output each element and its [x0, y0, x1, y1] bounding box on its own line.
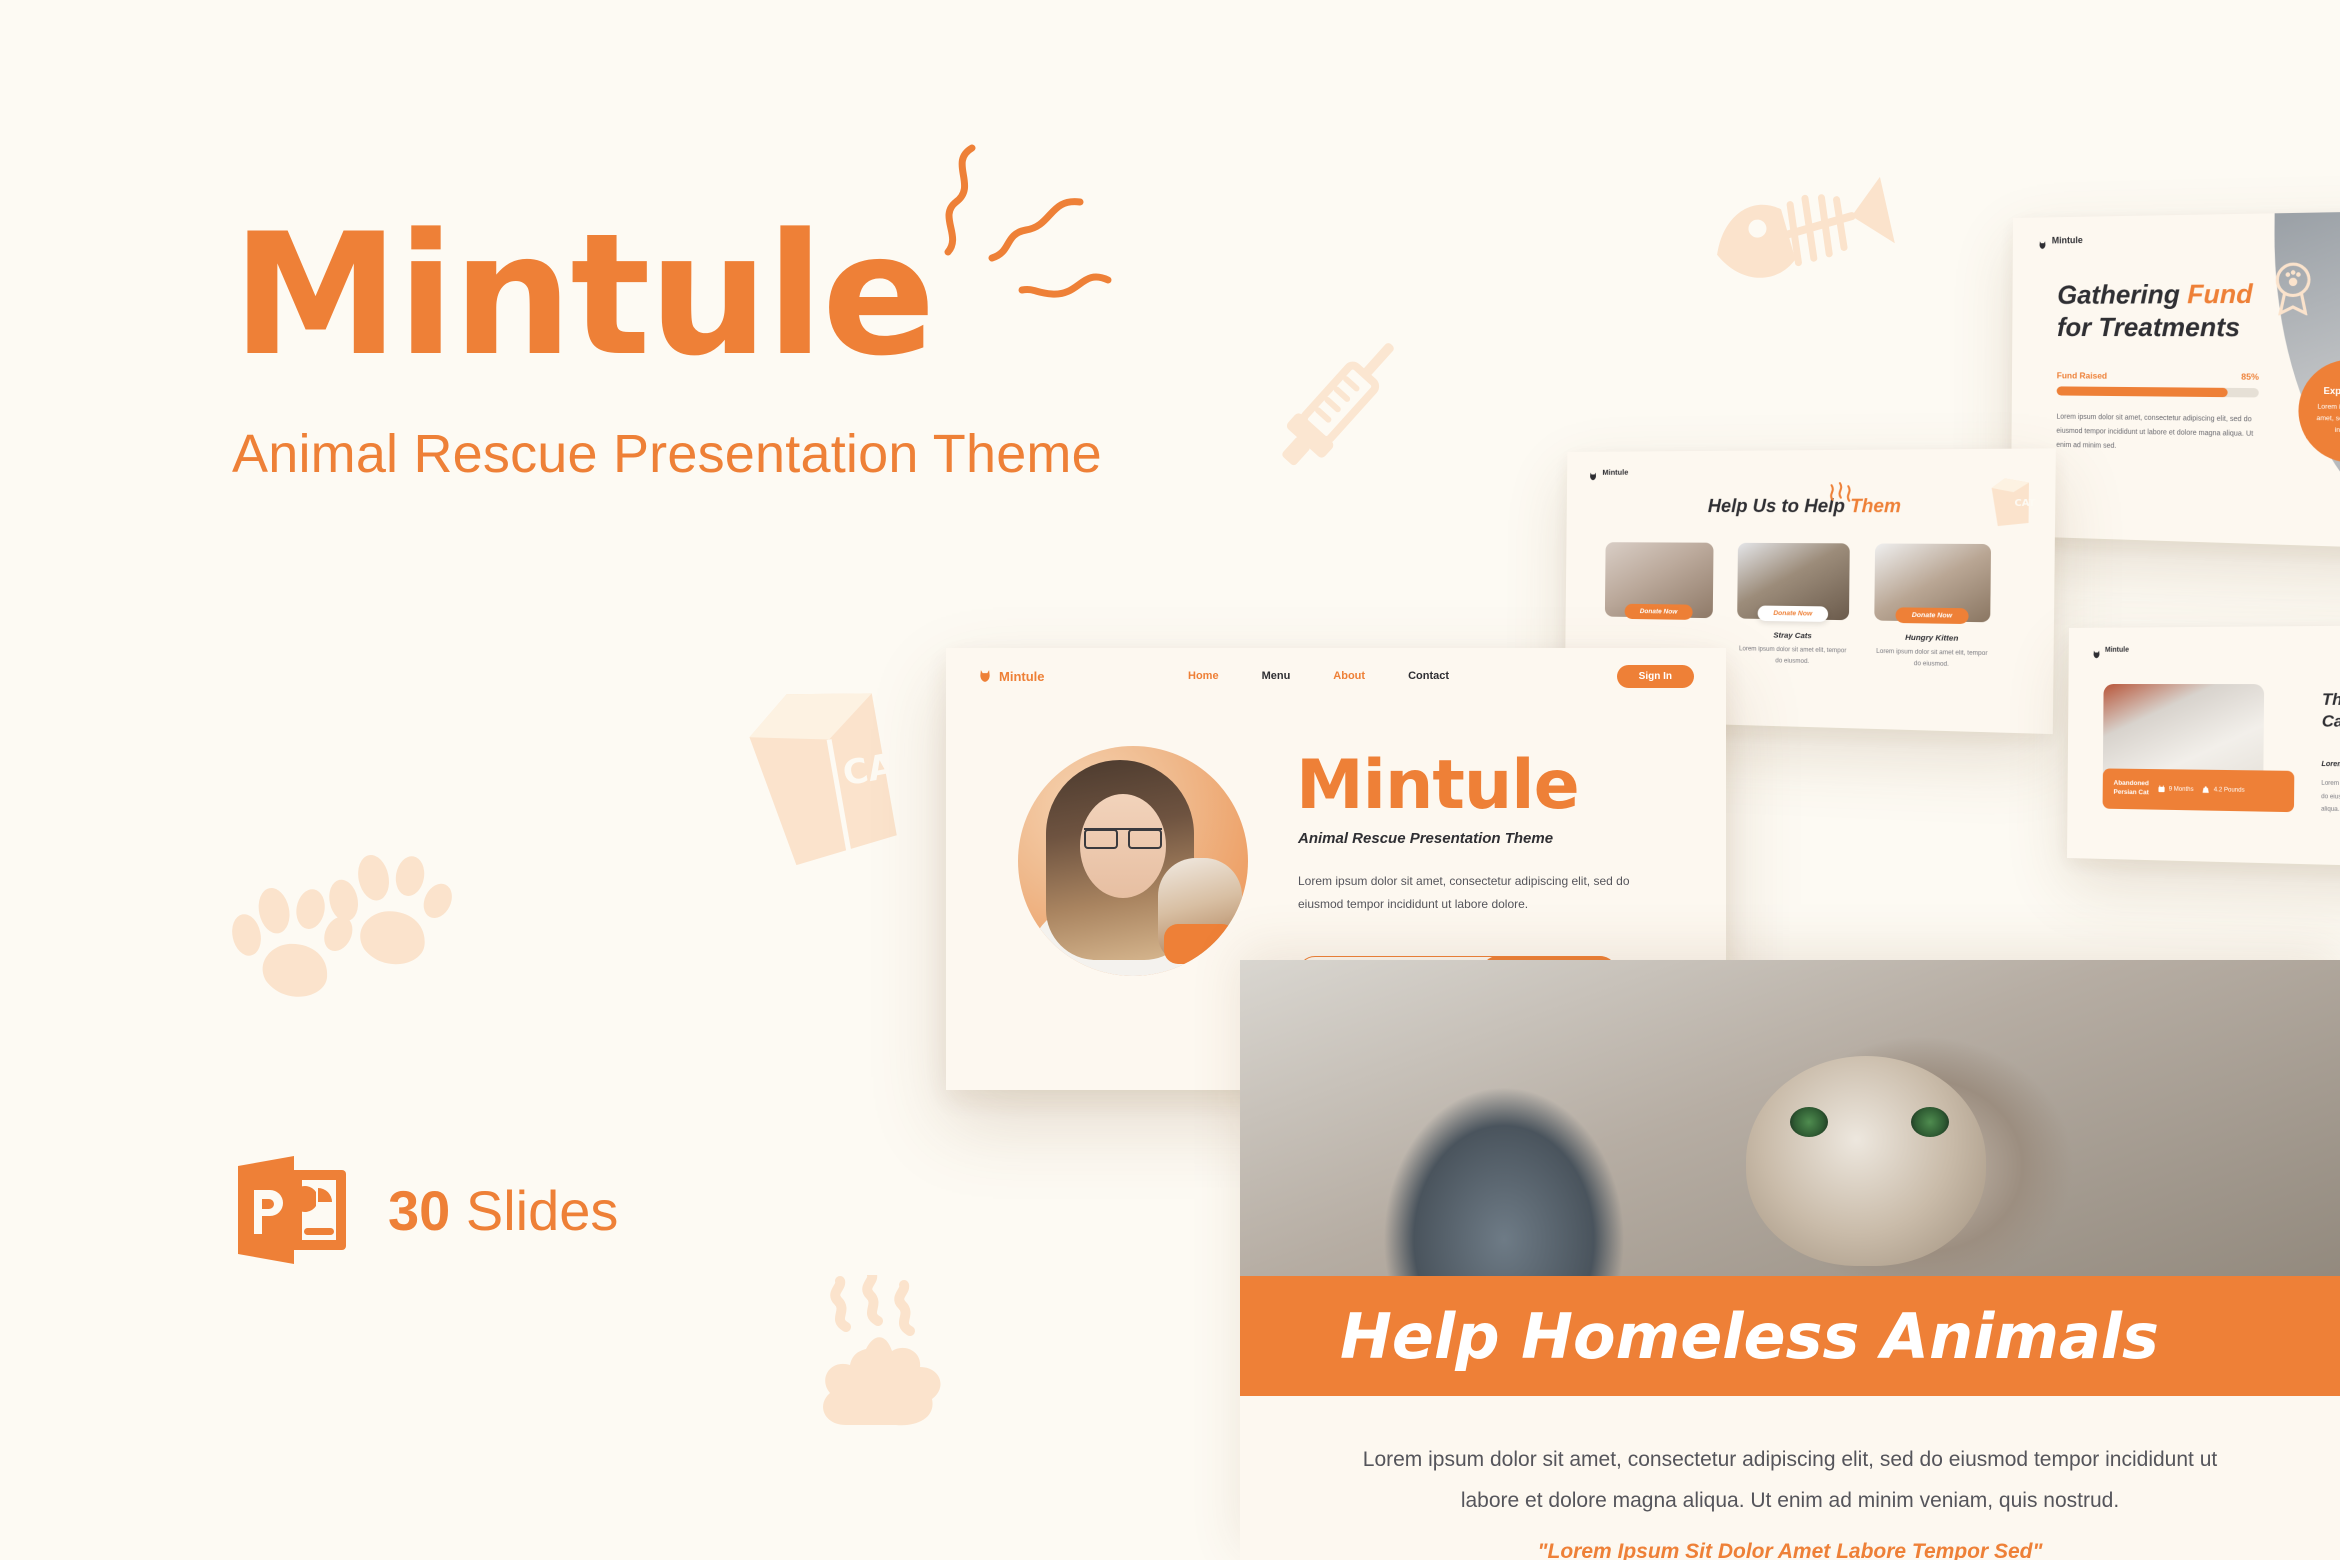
- donate-now-button[interactable]: Donate Now: [1758, 606, 1829, 622]
- cat-name-label: Abandoned Persian Cat: [2113, 780, 2149, 798]
- squiggle-lines-icon: [1827, 481, 1855, 511]
- slide-help-headline-highlight: Them: [1850, 496, 1901, 517]
- landing-body: Lorem ipsum dolor sit amet, consectetur …: [1298, 870, 1668, 917]
- landing-subtitle: Animal Rescue Presentation Theme: [1298, 830, 1553, 847]
- fish-bone-icon: [1705, 160, 1905, 325]
- homeless-paragraph: Lorem ipsum dolor sit amet, consectetur …: [1360, 1440, 2220, 1522]
- slide-adorable-cat[interactable]: Mintule Abandoned Persian Cat 9 Months 4…: [2067, 624, 2340, 869]
- slide-fund-body: Lorem ipsum dolor sit amet, consectetur …: [2056, 411, 2267, 457]
- slide-cat-title: This Adorable Cat Wants Home: [2322, 690, 2340, 734]
- slide-fund-headline-highlight: Fund: [2187, 278, 2253, 309]
- explanation-body: Lorem ipsum dolor sit amet, sed do eiusm…: [2311, 401, 2340, 437]
- slide-cat-sublabel: Lorem Ipsum: [2321, 761, 2340, 769]
- slide-help-homeless-animals[interactable]: Help Homeless Animals Lorem ipsum dolor …: [1240, 960, 2340, 1560]
- slide-cat-logo: Mintule: [2092, 646, 2129, 655]
- help-card-title: [1605, 628, 1713, 630]
- hero-block: Mintule Animal Rescue Presentation Theme: [232, 210, 1192, 485]
- cat-logo-icon: [1589, 468, 1598, 477]
- cat-eye-left: [1790, 1107, 1828, 1137]
- nav-link-contact[interactable]: Contact: [1408, 670, 1449, 682]
- slide-help-logo-text: Mintule: [1602, 468, 1628, 477]
- cat-milk-carton-icon: CAT: [735, 675, 935, 870]
- donate-now-button[interactable]: Donate Now: [1895, 607, 1968, 624]
- fund-raised-label: Fund Raised: [2057, 370, 2107, 380]
- fund-progress-track: [2057, 386, 2259, 397]
- landing-brand-text: Mintule: [999, 669, 1045, 684]
- homeless-banner: Help Homeless Animals: [1240, 1276, 2340, 1396]
- cat-weight: 4.2 Pounds: [2203, 786, 2245, 796]
- homeless-quote: "Lorem Ipsum Sit Dolor Amet Labore Tempo…: [1240, 1540, 2340, 1560]
- slide-fund-logo: Mintule: [2038, 235, 2083, 246]
- slide-cat-title-part1: This: [2322, 691, 2340, 709]
- landing-brand[interactable]: Mintule: [978, 669, 1045, 684]
- cat-eye-right: [1911, 1107, 1949, 1137]
- cat-photo: [1746, 1056, 1986, 1266]
- homeless-hero-photo: [1240, 960, 2340, 1328]
- help-card-text: [1605, 628, 1713, 630]
- slide-count-word: Slides: [466, 1179, 619, 1242]
- slide-help-headline: Help Us to Help Them: [1567, 495, 2056, 517]
- puppy-photo: [1158, 858, 1242, 962]
- slide-count-label: 30 Slides: [388, 1178, 618, 1243]
- cat-logo-icon: [2038, 236, 2047, 245]
- help-card-text: Lorem ipsum dolor sit amet elit, tempor …: [1874, 647, 1990, 673]
- landing-title: Mintule: [1296, 752, 1579, 820]
- help-card-text: Lorem ipsum dolor sit amet elit, tempor …: [1737, 644, 1849, 669]
- fund-raised-value: 85%: [2241, 371, 2259, 381]
- nav-link-menu[interactable]: Menu: [1262, 670, 1291, 682]
- nav-link-home[interactable]: Home: [1188, 670, 1219, 682]
- weight-icon: [2203, 786, 2210, 795]
- landing-navbar: Mintule Home Menu About Contact Sign In: [946, 648, 1726, 704]
- slide-fund-headline-part2: for Treatments: [2057, 311, 2240, 342]
- cat-logo-icon: [2092, 646, 2101, 655]
- explanation-title: Explanation: [2323, 385, 2340, 396]
- paw-prints-icon: [230, 840, 480, 1015]
- page-title: Mintule: [232, 210, 1192, 381]
- paw-award-ribbon-icon: [2272, 261, 2315, 321]
- cat-milk-carton-icon: CAT: [1985, 474, 2036, 533]
- poop-icon: [800, 1275, 985, 1450]
- cat-age: 9 Months: [2158, 785, 2194, 795]
- slide-fund-headline: Gathering Fund for Treatments: [2057, 278, 2253, 344]
- slide-cat-title-part2: Cat Wants Home: [2322, 713, 2340, 732]
- slide-count-badge: 30 Slides: [232, 1152, 618, 1268]
- slide-fund-progress-row: Fund Raised 85%: [2057, 370, 2259, 382]
- calendar-icon: [2158, 785, 2165, 794]
- nav-link-about[interactable]: About: [1333, 670, 1365, 682]
- slide-fund-logo-text: Mintule: [2052, 235, 2083, 246]
- slide-help-logo: Mintule: [1589, 468, 1629, 477]
- slide-cat-info-tag: Abandoned Persian Cat 9 Months 4.2 Pound…: [2103, 768, 2295, 812]
- slide-fund-headline-part1: Gathering: [2057, 279, 2187, 310]
- cat-logo-icon: [978, 669, 992, 683]
- cat-carton-label: CAT: [840, 742, 918, 794]
- landing-nav-links: Home Menu About Contact: [1188, 670, 1449, 682]
- fund-progress-fill: [2057, 386, 2228, 397]
- slide-count-number: 30: [388, 1179, 450, 1242]
- slide-cat-logo-text: Mintule: [2105, 647, 2129, 654]
- cat-weight-label: 4.2 Pounds: [2214, 787, 2245, 794]
- donate-now-button[interactable]: Donate Now: [1625, 604, 1693, 620]
- slide-cat-body: Lorem ipsum dolor sit amet, consectetur …: [2321, 777, 2340, 819]
- slide-gathering-fund[interactable]: Mintule Gathering Fund for Treatments Fu…: [2011, 207, 2340, 555]
- landing-hero-photo: [1018, 746, 1248, 976]
- presentation-preview-canvas: CAT: [0, 0, 2340, 1560]
- svg-text:CAT: CAT: [2014, 498, 2035, 509]
- page-subtitle: Animal Rescue Presentation Theme: [232, 423, 1192, 485]
- help-card-title: Hungry Kitten: [1874, 632, 1990, 643]
- cat-age-label: 9 Months: [2169, 787, 2194, 793]
- help-card[interactable]: Donate Now Hungry Kitten Lorem ipsum dol…: [1874, 543, 1991, 672]
- glasses-icon: [1084, 828, 1162, 844]
- sign-in-button[interactable]: Sign In: [1617, 665, 1694, 688]
- syringe-icon: [1275, 332, 1435, 497]
- homeless-banner-text: Help Homeless Animals: [1340, 1300, 2159, 1373]
- help-card[interactable]: Donate Now Stray Cats Lorem ipsum dolor …: [1737, 543, 1850, 669]
- powerpoint-icon: [232, 1152, 354, 1268]
- help-card-title: Stray Cats: [1737, 630, 1849, 641]
